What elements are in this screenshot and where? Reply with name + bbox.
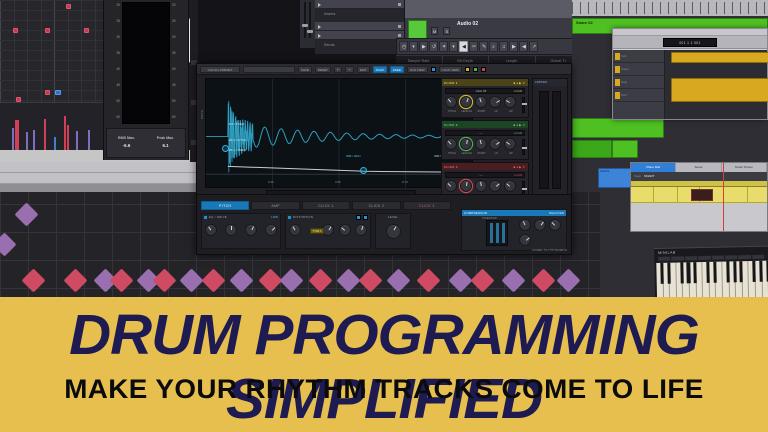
- meter-tick: 20: [172, 4, 186, 7]
- x-tick-1: 0.25: [268, 181, 274, 184]
- track-color-icon: [615, 92, 620, 99]
- piano-white-key[interactable]: [722, 261, 729, 298]
- eq-knobs[interactable]: [205, 224, 277, 236]
- ruler-tick: [636, 2, 637, 14]
- knob-label: START: [474, 110, 490, 113]
- layer-header[interactable]: CLICK 1 ■●▶✕: [442, 79, 528, 86]
- note-block[interactable]: [691, 189, 713, 201]
- tab-click-3[interactable]: CLICK 3: [403, 201, 451, 210]
- banner-subline: MAKE YOUR RHYTHM TRACKS COME TO LIFE: [0, 373, 768, 405]
- plugin-tabs[interactable]: PITCH AMP CLICK 1 CLICK 2 CLICK 3: [201, 201, 451, 210]
- velocity-bar[interactable]: [76, 131, 78, 150]
- ruler-tick: [596, 2, 597, 14]
- ruler-tick: [692, 2, 693, 14]
- knob-pitch[interactable]: PITCH: [445, 180, 457, 192]
- plugin-topbar[interactable]: CLR ALL PRESET SAVE RESET ↶ ↷ EDIT SNAP …: [197, 64, 571, 75]
- old-view-button[interactable]: OLD VIEW: [407, 66, 428, 73]
- velocity-bar[interactable]: [88, 130, 90, 150]
- level-section[interactable]: LEVEL: [375, 213, 411, 249]
- midi-keyboard-controller: MINILAB: [654, 246, 768, 300]
- pitch-axis-label: PITCH: [200, 110, 204, 119]
- velocity-bar[interactable]: [26, 132, 28, 150]
- ruler-tick: [684, 2, 685, 14]
- keyboard-pads[interactable]: [658, 255, 764, 261]
- layer-knobs[interactable]: PITCH LENGTH START LP HP: [445, 96, 516, 108]
- track-color-chip[interactable]: [408, 20, 427, 40]
- step-marker[interactable]: [0, 232, 17, 256]
- tool-icon: ✎: [482, 44, 485, 49]
- ruler-tick: [644, 2, 645, 14]
- layer-level-fader[interactable]: [522, 139, 525, 155]
- clip-green-2[interactable]: [572, 140, 612, 158]
- waveform-svg: [206, 79, 472, 188]
- track-name: Audio 02: [457, 21, 478, 27]
- layer-body[interactable]: — LOAD PITCH LENGTH START LP HP: [442, 128, 528, 159]
- save-button[interactable]: SAVE: [298, 66, 312, 73]
- knob-hp[interactable]: [339, 224, 351, 236]
- meter-tick: 35: [172, 52, 186, 55]
- snare-clip-label: Snare 02: [573, 19, 767, 25]
- redo-icon[interactable]: ↷: [345, 66, 354, 73]
- section-header[interactable]: EQ / DRIVE LOW: [202, 214, 280, 220]
- piano-black-key[interactable]: [733, 261, 737, 283]
- snap-button[interactable]: SNAP: [373, 66, 387, 73]
- power-icon[interactable]: [398, 34, 401, 37]
- midi-note[interactable]: [45, 90, 50, 95]
- compressor-knobs[interactable]: [519, 219, 563, 246]
- x-tick-3: 0.75: [402, 181, 408, 184]
- tab-click-2[interactable]: CLICK 2: [352, 201, 400, 210]
- ruler-tick: [676, 2, 677, 14]
- knob-start[interactable]: START: [475, 180, 487, 192]
- knob-ratio[interactable]: [519, 219, 531, 231]
- ruler-tick: [668, 2, 669, 14]
- clip-yellow-2[interactable]: [671, 78, 768, 102]
- ruler-tick: [708, 2, 709, 14]
- velocity-bar[interactable]: [67, 125, 69, 150]
- daw2-menubar[interactable]: [613, 29, 767, 36]
- panel-controls[interactable]: Snap SMART: [631, 172, 767, 181]
- tool-icon: ◀: [522, 44, 525, 49]
- daw2-arrangement[interactable]: [665, 50, 767, 119]
- compressor-header[interactable]: COMPRESSOR RECOVER: [462, 210, 566, 216]
- view-color-swatch[interactable]: [431, 67, 436, 72]
- velocity-bar[interactable]: [64, 116, 66, 150]
- layer-load-button[interactable]: LOAD: [514, 90, 522, 93]
- tool-icon: ◴: [402, 44, 405, 49]
- knob-start[interactable]: START: [475, 96, 487, 108]
- tool-icon: ▾: [412, 44, 415, 49]
- knob-length[interactable]: LENGTH: [460, 96, 472, 108]
- chevron-right-icon: [318, 34, 321, 38]
- midi-note[interactable]: [66, 4, 71, 9]
- tool-button-3[interactable]: ↺: [429, 41, 438, 52]
- track-color-icon: [615, 53, 620, 60]
- section-header[interactable]: DISTORTION: [286, 214, 370, 220]
- tab-click-1[interactable]: CLICK 1: [302, 201, 350, 210]
- tool-button-13[interactable]: ↗: [529, 41, 538, 52]
- chevron-right-icon: [318, 3, 321, 7]
- ruler-tick: [724, 2, 725, 14]
- meter-tick: 40: [172, 68, 186, 71]
- piano-black-key[interactable]: [753, 261, 757, 283]
- power-icon[interactable]: [398, 25, 401, 28]
- knob-pitch[interactable]: PITCH: [445, 96, 457, 108]
- distortion-knobs[interactable]: [289, 224, 367, 236]
- limiter-meters: [539, 91, 561, 189]
- timeline-ruler[interactable]: [572, 0, 768, 16]
- meter-tick: 30: [172, 36, 186, 39]
- velocity-bar[interactable]: [33, 130, 35, 150]
- meter-tick: 50: [106, 100, 120, 103]
- logic-piano-roll-panel[interactable]: Piano Roll Score Smart Tempo Snap SMART: [630, 162, 768, 232]
- knob-label: LENGTH: [459, 110, 475, 113]
- drum-synth-plugin-window[interactable]: CLR ALL PRESET SAVE RESET ↶ ↷ EDIT SNAP …: [196, 63, 572, 255]
- ruler-tick: [764, 2, 765, 14]
- knob-hp[interactable]: HP: [504, 138, 516, 150]
- undo-icon[interactable]: ↶: [334, 66, 343, 73]
- strip-section-inserts[interactable]: Inserts: [315, 0, 404, 9]
- layer-knobs[interactable]: PITCH LENGTH START LP HP: [445, 180, 516, 192]
- grid-line: [588, 192, 589, 297]
- ruler-tick: [660, 2, 661, 14]
- knob-lp[interactable]: LP: [489, 180, 501, 192]
- channel-strip[interactable]: Inserts EQ Sends: [315, 0, 405, 52]
- piano-black-key[interactable]: [660, 263, 664, 285]
- midi-note[interactable]: [45, 28, 50, 33]
- plugin-status-text: LOADED: TS-7778 SNARE 02: [532, 250, 567, 253]
- meter-tick: 35: [106, 52, 120, 55]
- piano-black-key[interactable]: [759, 261, 763, 283]
- knob-dist[interactable]: [289, 224, 301, 236]
- layer-icons[interactable]: ■●▶✕: [514, 165, 526, 169]
- layer-preset-bar[interactable]: — LOAD: [445, 172, 525, 178]
- section-header: LEVEL: [376, 214, 410, 220]
- snap-label: Snap: [634, 175, 641, 178]
- freq-marker-3: -26.1 / 150Hz: [228, 149, 246, 152]
- keyboard-keys[interactable]: [656, 261, 768, 300]
- knob-hi-mid[interactable]: [245, 224, 257, 236]
- meter-readout: RMS Max. -6.6 Peak Max. 6.1: [106, 128, 186, 158]
- ruler-tick: [580, 2, 581, 14]
- piano-black-key[interactable]: [713, 262, 717, 284]
- layer-icons[interactable]: ■●▶✕: [514, 123, 526, 127]
- eq-drive-section[interactable]: EQ / DRIVE LOW: [201, 213, 281, 249]
- grid-line: [56, 192, 57, 297]
- step-marker[interactable]: [14, 202, 38, 226]
- layer-body[interactable]: Click 05 LOAD PITCH LENGTH START LP HP: [442, 86, 528, 117]
- daw2-track-row[interactable]: Hats: [613, 76, 664, 89]
- banner-headline: DRUM PROGRAMMING SIMPLIFIED: [0, 303, 768, 431]
- velocity-bar[interactable]: [17, 120, 19, 150]
- knob-gain[interactable]: [205, 224, 217, 236]
- knob-high[interactable]: [265, 224, 277, 236]
- clip-yellow-1[interactable]: [671, 52, 768, 63]
- panel-tabs[interactable]: Piano Roll Score Smart Tempo: [631, 163, 767, 172]
- knob-start[interactable]: START: [475, 138, 487, 150]
- meter-tick: 20: [106, 4, 120, 7]
- x-tick-2: 0.50: [335, 181, 341, 184]
- meter-tick: 45: [172, 84, 186, 87]
- knob-main-out[interactable]: [386, 224, 401, 239]
- freq-marker-2: -20.4 / 377Hz: [228, 139, 246, 142]
- tool-button-7[interactable]: ✂: [469, 41, 478, 52]
- meter-rms: RMS Max. -6.6: [107, 129, 146, 157]
- free-button[interactable]: FREE: [390, 66, 404, 73]
- chevron-right-icon: [318, 25, 321, 29]
- piano-black-key[interactable]: [687, 262, 691, 284]
- velocity-bar[interactable]: [12, 128, 14, 150]
- ruler-tick: [700, 2, 701, 14]
- layer-icons[interactable]: ■●▶✕: [514, 81, 526, 85]
- piano-white-key[interactable]: [729, 261, 736, 298]
- midi-note[interactable]: [13, 28, 18, 33]
- tool-button-8[interactable]: ✎: [479, 41, 488, 52]
- waveform-display[interactable]: PITCH -6.5 / 773Hz -20.4 / 377Hz -26.1 /…: [205, 78, 473, 188]
- meter-tick: 25: [106, 20, 120, 23]
- tool-icon: ⌕: [492, 44, 495, 49]
- daw2-transport[interactable]: 001 1 1 001: [613, 36, 767, 49]
- layer-level-fader[interactable]: [522, 97, 525, 113]
- knob-attack[interactable]: [534, 219, 546, 231]
- layer3-swatch[interactable]: [481, 67, 486, 72]
- ruler-tick: [748, 2, 749, 14]
- knob-label: LENGTH: [459, 152, 475, 155]
- layer-preset-bar[interactable]: Click 05 LOAD: [445, 88, 525, 94]
- layer-stack[interactable]: CLICK 1 ■●▶✕ Click 05 LOAD PITCH LENGTH …: [441, 78, 529, 206]
- limiter-panel[interactable]: LIMITER: [532, 78, 568, 196]
- clip-green-1[interactable]: [572, 118, 664, 138]
- envelope-node-start[interactable]: [222, 145, 229, 152]
- tool-icon: ✂: [472, 44, 475, 49]
- tools-toolbar[interactable]: ◴▾▶↺✶▾◀✂✎⌕♫▶◀↗: [396, 38, 582, 55]
- tool-button-2[interactable]: ▶: [419, 41, 428, 52]
- layer-preset-bar[interactable]: — LOAD: [445, 130, 525, 136]
- ruler-tick: [604, 2, 605, 14]
- tab-amp[interactable]: AMP: [251, 201, 299, 210]
- piano-black-key[interactable]: [726, 261, 730, 283]
- node-label-mid: 0dB / 20Hz: [346, 155, 361, 158]
- layer-header[interactable]: CLICK 3 ■●▶✕: [442, 163, 528, 170]
- tab-pitch[interactable]: PITCH: [201, 201, 249, 210]
- track-color-icon: [615, 79, 620, 86]
- ruler-tick: [740, 2, 741, 14]
- clip-green-3[interactable]: [612, 140, 638, 158]
- midi-note[interactable]: [55, 90, 61, 95]
- piano-white-key[interactable]: [735, 261, 742, 298]
- knob-hp[interactable]: HP: [504, 180, 516, 192]
- tool-icon: ▶: [512, 44, 515, 49]
- tool-icon: ✶: [442, 44, 445, 49]
- meter-tick: 60: [172, 116, 186, 119]
- compressor-panel[interactable]: COMPRESSOR RECOVER THRESHOLD: [461, 209, 567, 251]
- tool-button-1[interactable]: ▾: [409, 41, 418, 52]
- daw2-track-list[interactable]: Kick Snare Hats Perc: [613, 50, 665, 119]
- piano-black-key[interactable]: [680, 262, 684, 284]
- piano-black-key[interactable]: [693, 262, 697, 284]
- reset-button[interactable]: RESET: [315, 66, 331, 73]
- piano-black-key[interactable]: [667, 263, 671, 285]
- dist-swatch-a[interactable]: [356, 215, 361, 220]
- daw2-body: Kick Snare Hats Perc: [613, 50, 767, 119]
- meter-tick: 45: [106, 84, 120, 87]
- piano-white-key[interactable]: [676, 262, 683, 299]
- dist-swatch-b[interactable]: [363, 215, 368, 220]
- threshold-meter[interactable]: [486, 220, 508, 246]
- piano-white-key[interactable]: [656, 263, 663, 300]
- layer-header[interactable]: CLICK 2 ■●▶✕: [442, 121, 528, 128]
- tab-score[interactable]: Score: [676, 163, 721, 172]
- knob-pitch[interactable]: PITCH: [445, 138, 457, 150]
- layer1-swatch[interactable]: [465, 67, 470, 72]
- layer2-swatch[interactable]: [473, 67, 478, 72]
- plugin-bottom-panel[interactable]: PITCH AMP CLICK 1 CLICK 2 CLICK 3 EQ / D…: [197, 194, 571, 254]
- daw2-track-row[interactable]: Perc: [613, 89, 664, 102]
- tool-button-10[interactable]: ♫: [499, 41, 508, 52]
- tool-icon: ▾: [452, 44, 455, 49]
- piano-black-key[interactable]: [706, 262, 710, 284]
- knob-label: HP: [503, 110, 519, 113]
- layer-knobs[interactable]: PITCH LENGTH START LP HP: [445, 138, 516, 150]
- knob-release[interactable]: [519, 234, 531, 246]
- tool-icon: ▶: [422, 44, 425, 49]
- track-waveform: [405, 0, 573, 18]
- enable-checkbox[interactable]: [204, 216, 207, 219]
- knob-label: PITCH: [444, 152, 460, 155]
- keyboard-brand: MINILAB: [654, 247, 768, 255]
- knob-label: START: [474, 152, 490, 155]
- knob-label: LP: [488, 110, 504, 113]
- piano-black-key[interactable]: [739, 261, 743, 283]
- daw2-track-row[interactable]: Snare: [613, 63, 664, 76]
- screenshot-root: 2025303540455060 2025303540455060 RMS Ma…: [0, 0, 768, 432]
- daw2-track-row[interactable]: Kick: [613, 50, 664, 63]
- knob-label: LP: [488, 152, 504, 155]
- meter-tick: 25: [172, 20, 186, 23]
- knob-label: HP: [503, 152, 519, 155]
- tab-piano-roll[interactable]: Piano Roll: [631, 163, 676, 172]
- distortion-section[interactable]: DISTORTION TYPE 1: [285, 213, 371, 249]
- piano-white-key[interactable]: [663, 263, 670, 300]
- secondary-daw-window[interactable]: 001 1 1 001 Kick Snare Hats Perc: [612, 28, 768, 120]
- meter-peak: Peak Max. 6.1: [146, 129, 185, 157]
- tool-button-5[interactable]: ▾: [449, 41, 458, 52]
- freq-marker-1: -6.5 / 773Hz: [228, 123, 244, 126]
- eq-badge[interactable]: LOW: [271, 216, 278, 219]
- ruler-tick: [652, 2, 653, 14]
- strip-section-eq[interactable]: EQ: [315, 22, 404, 31]
- ruler-tick: [620, 2, 621, 14]
- tool-button-0[interactable]: ◴: [399, 41, 408, 52]
- ruler-tick: [612, 2, 613, 14]
- click-view-button[interactable]: CLICK VIEW: [439, 66, 462, 73]
- playhead[interactable]: [723, 163, 724, 231]
- knob-lp[interactable]: LP: [489, 138, 501, 150]
- level-meter: 2025303540455060 2025303540455060 RMS Ma…: [103, 0, 189, 160]
- knob-mix[interactable]: [355, 224, 367, 236]
- meter-scale-left: 2025303540455060: [106, 4, 120, 126]
- promo-banner: DRUM PROGRAMMING SIMPLIFIED MAKE YOUR RH…: [0, 297, 768, 432]
- tool-button-6[interactable]: ◀: [459, 41, 468, 52]
- lower-toolbar-strip[interactable]: [0, 162, 196, 196]
- ruler-tick: [628, 2, 629, 14]
- compressor-preset[interactable]: RECOVER: [549, 212, 564, 215]
- tool-button-4[interactable]: ✶: [439, 41, 448, 52]
- layer-click-1[interactable]: CLICK 1 ■●▶✕ Click 05 LOAD PITCH LENGTH …: [441, 78, 529, 118]
- distortion-type-display[interactable]: TYPE 1: [310, 228, 324, 234]
- knob-length[interactable]: LENGTH: [460, 138, 472, 150]
- power-icon[interactable]: [398, 3, 401, 6]
- knob-label: PITCH: [444, 110, 460, 113]
- tab-smart-tempo[interactable]: Smart Tempo: [722, 163, 767, 172]
- ruler-tick: [572, 2, 573, 14]
- level-knob-wrap[interactable]: [379, 224, 407, 239]
- knob-length[interactable]: LENGTH: [460, 180, 472, 192]
- track-color-icon: [615, 66, 620, 73]
- tool-icon: ◀: [462, 44, 465, 49]
- daw2-position-display: 001 1 1 001: [663, 38, 717, 47]
- tool-button-12[interactable]: ◀: [519, 41, 528, 52]
- velocity-bar[interactable]: [44, 119, 46, 150]
- tool-button-9[interactable]: ⌕: [489, 41, 498, 52]
- grid-line: [0, 260, 600, 261]
- strip-section-sends[interactable]: Sends: [315, 31, 404, 40]
- snap-value[interactable]: SMART: [644, 175, 654, 178]
- tool-icon: ♫: [502, 44, 505, 49]
- mixer-faders[interactable]: [300, 0, 315, 48]
- limiter-header: LIMITER: [533, 79, 567, 86]
- midi-note[interactable]: [84, 28, 89, 33]
- ruler-tick: [716, 2, 717, 14]
- enable-checkbox[interactable]: [288, 216, 291, 219]
- envelope-node-mid[interactable]: [360, 167, 367, 174]
- ruler-tick: [732, 2, 733, 14]
- tool-icon: ↺: [432, 44, 435, 49]
- layer-load-button[interactable]: LOAD: [514, 174, 522, 177]
- tool-icon: ↗: [532, 44, 535, 49]
- meter-tick: 50: [172, 100, 186, 103]
- meter-tick: 40: [106, 68, 120, 71]
- meter-tick: 30: [106, 36, 120, 39]
- tool-button-11[interactable]: ▶: [509, 41, 518, 52]
- meter-well: [122, 2, 170, 124]
- meter-tick: 60: [106, 116, 120, 119]
- knob-lp[interactable]: LP: [489, 96, 501, 108]
- knob-low-mid[interactable]: [225, 224, 237, 236]
- meter-scale-right: 2025303540455060: [172, 4, 186, 126]
- edit-button[interactable]: EDIT: [357, 66, 370, 73]
- layer-load-button[interactable]: LOAD: [514, 132, 522, 135]
- preset-selector[interactable]: CLR ALL PRESET: [200, 66, 240, 73]
- ruler-tick: [756, 2, 757, 14]
- knob-hp[interactable]: HP: [504, 96, 516, 108]
- layer-click-2[interactable]: CLICK 2 ■●▶✕ — LOAD PITCH LENGTH START L…: [441, 120, 529, 160]
- ruler-tick: [588, 2, 589, 14]
- velocity-bar[interactable]: [54, 137, 56, 150]
- knob-knee[interactable]: [549, 219, 561, 231]
